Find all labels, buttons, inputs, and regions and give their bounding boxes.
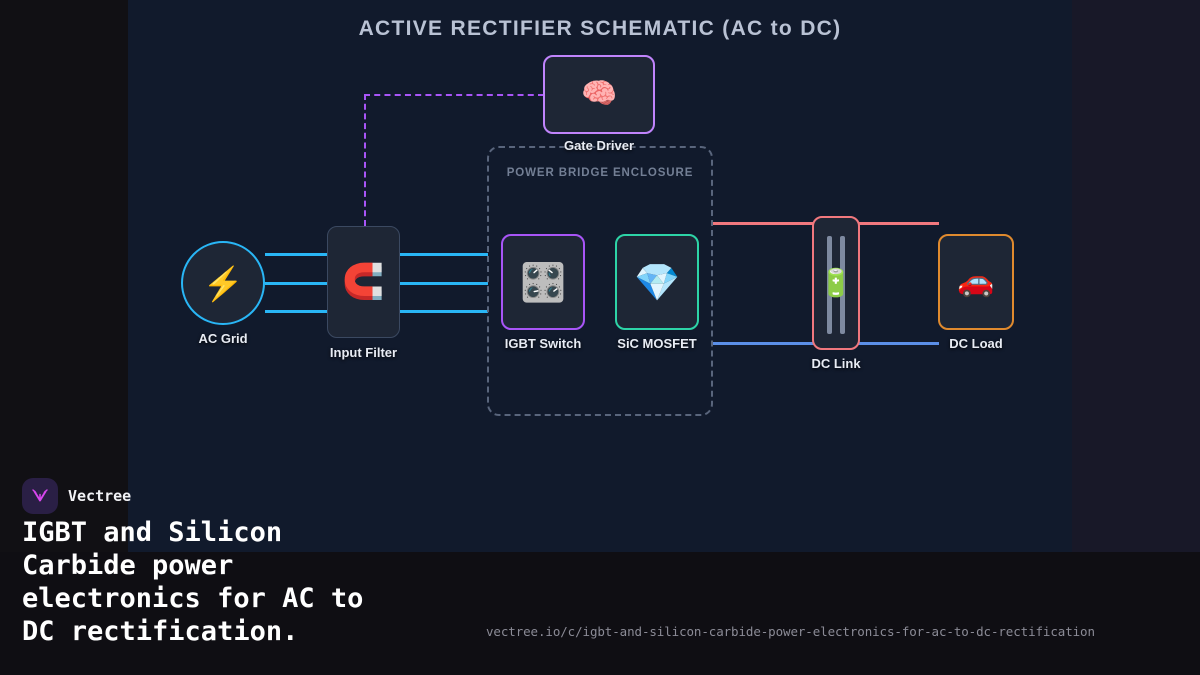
node-sic-mosfet-box[interactable]: 💎 — [615, 234, 699, 330]
node-ac-grid-label: AC Grid — [198, 331, 247, 346]
control-knobs-icon: 🎛️ — [520, 264, 566, 301]
node-igbt-switch-box[interactable]: 🎛️ — [501, 234, 585, 330]
page-background-left-band — [0, 0, 128, 552]
magnet-icon: 🧲 — [342, 265, 384, 299]
gem-stone-icon: 💎 — [634, 264, 680, 301]
node-sic-mosfet-label: SiC MOSFET — [617, 336, 696, 351]
brand: Vectree — [22, 478, 131, 514]
node-gate-driver-label: Gate Driver — [564, 138, 634, 153]
node-dc-link-label: DC Link — [811, 356, 860, 371]
battery-icon: 🔋 — [819, 270, 853, 297]
node-ac-grid[interactable]: ⚡ AC Grid — [181, 241, 265, 325]
node-dc-link-box[interactable]: 🔋 — [812, 216, 860, 350]
node-sic-mosfet[interactable]: 💎 SiC MOSFET — [615, 234, 699, 330]
node-ac-grid-box[interactable]: ⚡ — [181, 241, 265, 325]
automobile-icon: 🚗 — [957, 267, 994, 297]
diagram-title: ACTIVE RECTIFIER SCHEMATIC (AC to DC) — [128, 17, 1072, 41]
wire-ac-phase-1-filter-to-bridge — [400, 253, 488, 256]
brain-icon: 🧠 — [581, 80, 617, 109]
node-gate-driver[interactable]: 🧠 Gate Driver — [543, 55, 655, 134]
wire-ac-phase-2-grid-to-filter — [265, 282, 328, 285]
node-dc-load[interactable]: 🚗 DC Load — [938, 234, 1014, 330]
wire-gate-signal-vertical — [364, 94, 366, 226]
node-igbt-switch-label: IGBT Switch — [505, 336, 582, 351]
brand-name: Vectree — [68, 487, 131, 505]
footer-url: vectree.io/c/igbt-and-silicon-carbide-po… — [486, 624, 1095, 639]
node-gate-driver-box[interactable]: 🧠 — [543, 55, 655, 134]
wire-ac-phase-2-filter-to-bridge — [400, 282, 488, 285]
wire-ac-phase-1-grid-to-filter — [265, 253, 328, 256]
node-dc-load-label: DC Load — [949, 336, 1002, 351]
wire-gate-signal-horizontal — [364, 94, 544, 96]
wire-ac-phase-3-grid-to-filter — [265, 310, 328, 313]
footer: Vectree IGBT and Silicon Carbide power e… — [0, 552, 1200, 675]
node-input-filter-label: Input Filter — [330, 345, 397, 360]
wire-ac-phase-3-filter-to-bridge — [400, 310, 488, 313]
node-igbt-switch[interactable]: 🎛️ IGBT Switch — [501, 234, 585, 330]
power-bridge-enclosure-label: POWER BRIDGE ENCLOSURE — [489, 167, 711, 179]
node-dc-link[interactable]: 🔋 DC Link — [812, 216, 860, 350]
node-input-filter[interactable]: 🧲 Input Filter — [327, 226, 400, 338]
node-dc-load-box[interactable]: 🚗 — [938, 234, 1014, 330]
high-voltage-icon: ⚡ — [202, 267, 243, 300]
vectree-logo-icon — [22, 478, 58, 514]
post-caption: IGBT and Silicon Carbide power electroni… — [22, 516, 542, 648]
node-input-filter-box[interactable]: 🧲 — [327, 226, 400, 338]
page-background-right-band — [1072, 0, 1200, 552]
diagram-panel: ACTIVE RECTIFIER SCHEMATIC (AC to DC) PO… — [128, 0, 1072, 552]
